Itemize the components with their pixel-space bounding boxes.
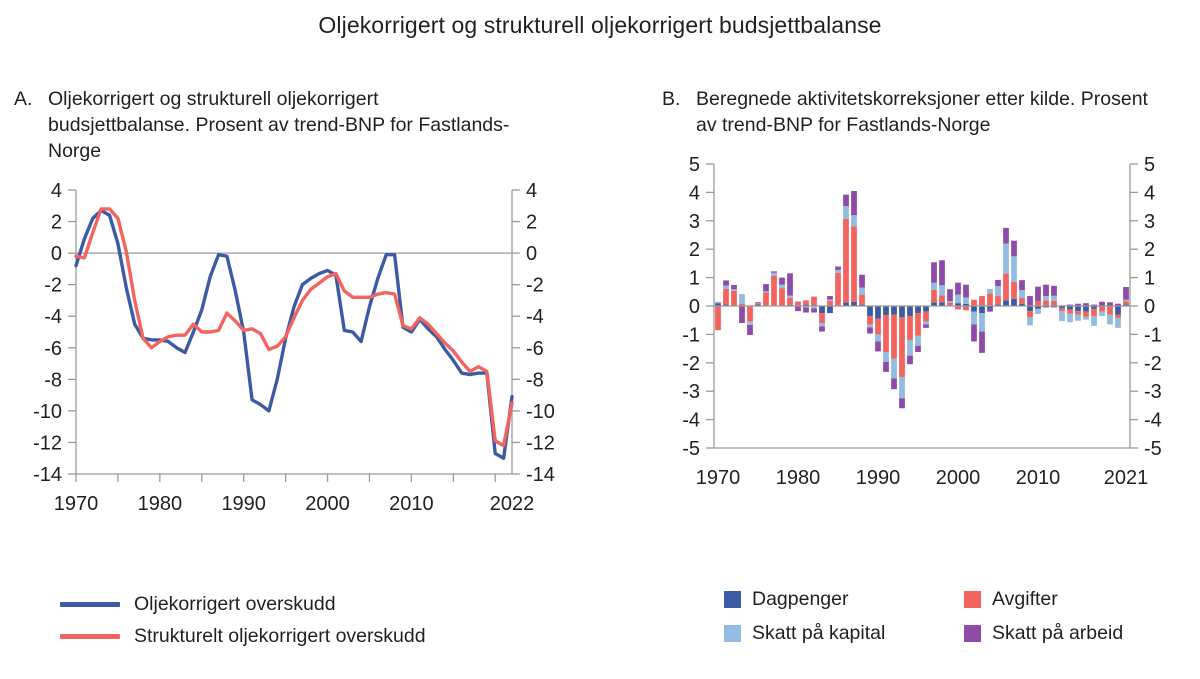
bar-segment — [771, 271, 777, 272]
bar-segment — [795, 306, 801, 311]
legend-color-swatch — [964, 591, 981, 608]
bar-segment — [1003, 273, 1009, 300]
axis-tick-label: 4 — [1144, 182, 1155, 204]
bar-segment — [763, 284, 769, 291]
axis-tick-label: -2 — [1144, 353, 1162, 375]
bar-segment — [1123, 301, 1129, 304]
bar-segment — [787, 295, 793, 297]
axis-tick-label: -4 — [526, 306, 544, 328]
panel-b: B. Beregnede aktivitetskorreksjoner ette… — [662, 86, 1200, 528]
bar-segment — [907, 306, 913, 316]
axis-tick-label: -2 — [682, 353, 700, 375]
bar-segment — [1099, 306, 1105, 312]
bar-segment — [779, 285, 785, 288]
bar-segment — [835, 267, 841, 270]
bar-segment — [907, 340, 913, 356]
bar-segment — [971, 312, 977, 325]
panel-a-chart-svg: 442200-2-2-4-4-6-6-8-8-10-10-12-12-14-14… — [14, 164, 589, 554]
bar-segment — [1027, 296, 1033, 306]
bar-segment — [891, 359, 897, 379]
axis-tick-label: 1980 — [138, 493, 183, 515]
bar-segment — [803, 300, 809, 304]
bar-segment — [1035, 301, 1041, 306]
bar-segment — [827, 299, 833, 300]
axis-tick-label: -12 — [526, 432, 555, 454]
bar-segment — [1099, 302, 1105, 305]
bar-segment — [923, 324, 929, 327]
bar-segment — [1067, 314, 1073, 323]
bar-segment — [1027, 317, 1033, 325]
bar-segment — [923, 322, 929, 325]
bar-segment — [1035, 309, 1041, 314]
bar-segment — [835, 273, 841, 306]
bar-segment — [843, 219, 849, 303]
axis-tick-label: -3 — [1144, 381, 1162, 403]
bar-segment — [1003, 228, 1009, 244]
bar-segment — [851, 191, 857, 215]
bar-segment — [787, 273, 793, 295]
panel-b-chart-svg: 554433221100-1-1-2-2-3-3-4-4-5-519701980… — [662, 138, 1200, 528]
bar-segment — [1011, 256, 1017, 282]
bar-segment — [891, 306, 897, 315]
legend-color-swatch — [964, 625, 981, 642]
axis-tick-label: 4 — [526, 180, 537, 202]
bar-segment — [1083, 312, 1089, 317]
bar-segment — [995, 280, 1001, 286]
bar-segment — [883, 352, 889, 362]
bar-segment — [939, 260, 945, 285]
legend-item-oljekorrigert-overskudd: Oljekorrigert overskudd — [60, 588, 426, 620]
bar-segment — [1019, 280, 1025, 290]
bar-segment — [731, 291, 737, 305]
bar-segment — [987, 293, 993, 306]
bar-segment — [1059, 308, 1065, 311]
bar-segment — [1115, 318, 1121, 328]
legend-label: Dagpenger — [752, 588, 849, 611]
bar-segment — [1051, 286, 1057, 296]
axis-tick-label: -4 — [44, 306, 62, 328]
panel-a-heading: A. Oljekorrigert og strukturell oljekorr… — [14, 86, 589, 164]
bar-segment — [763, 291, 769, 292]
bar-segment — [907, 316, 913, 340]
bar-segment — [931, 283, 937, 290]
bar-segment — [955, 295, 961, 304]
legend-label: Skatt på kapital — [752, 622, 885, 645]
bar-segment — [875, 334, 881, 341]
bar-segment — [995, 296, 1001, 305]
bar-segment — [979, 313, 985, 331]
axis-tick-label: -8 — [526, 369, 544, 391]
bar-segment — [947, 301, 953, 302]
bar-segment — [987, 309, 993, 312]
bar-segment — [827, 296, 833, 299]
bar-segment — [1035, 287, 1041, 301]
axis-tick-label: -1 — [682, 324, 700, 346]
bar-segment — [915, 306, 921, 313]
axis-tick-label: 2 — [689, 239, 700, 261]
bar-segment — [1043, 285, 1049, 296]
legend-color-swatch — [724, 625, 741, 642]
bar-segment — [779, 278, 785, 285]
panel-a-letter: A. — [14, 86, 48, 112]
bar-segment — [851, 226, 857, 301]
bar-segment — [987, 289, 993, 293]
axis-tick-label: -2 — [526, 275, 544, 297]
axis-tick-label: 1990 — [856, 467, 901, 489]
axis-tick-label: 1970 — [696, 467, 741, 489]
axis-tick-label: 5 — [1144, 154, 1155, 176]
bar-segment — [747, 325, 753, 335]
legend-color-swatch — [724, 591, 741, 608]
axis-tick-label: -8 — [44, 369, 62, 391]
bar-segment — [1091, 316, 1097, 326]
bar-segment — [819, 306, 825, 313]
axis-tick-label: -4 — [682, 410, 700, 432]
bar-segment — [787, 298, 793, 305]
axis-tick-label: -6 — [44, 338, 62, 360]
bar-segment — [1003, 244, 1009, 274]
panel-b-heading: B. Beregnede aktivitetskorreksjoner ette… — [662, 86, 1200, 138]
bar-segment — [843, 195, 849, 206]
bar-segment — [963, 297, 969, 303]
bar-segment — [827, 301, 833, 306]
bar-segment — [811, 308, 817, 312]
bar-segment — [731, 289, 737, 291]
legend-label: Oljekorrigert overskudd — [134, 593, 336, 616]
bar-segment — [1075, 306, 1081, 311]
bar-segment — [739, 306, 745, 323]
bar-segment — [739, 294, 745, 304]
bar-segment — [1011, 241, 1017, 257]
panel-a-legend: Oljekorrigert overskudd Strukturelt olje… — [60, 588, 426, 652]
bar-segment — [923, 312, 929, 322]
bar-segment — [979, 306, 985, 313]
panel-b-subtitle: Beregnede aktivitetskorreksjoner etter k… — [696, 86, 1156, 138]
bar-segment — [1083, 317, 1089, 320]
bar-segment — [819, 326, 825, 331]
axis-tick-label: 1 — [1144, 268, 1155, 290]
bar-segment — [971, 300, 977, 306]
bar-segment — [923, 306, 929, 312]
bar-segment — [891, 378, 897, 389]
bar-segment — [1107, 306, 1113, 315]
bar-segment — [915, 346, 921, 352]
bar-segment — [1115, 315, 1121, 318]
bar-segment — [859, 288, 865, 295]
line-series-strukturelt-oljekorrigert-overskudd — [76, 209, 512, 446]
bar-segment — [875, 342, 881, 352]
legend-label: Strukturelt oljekorrigert overskudd — [134, 625, 426, 648]
bar-segment — [867, 316, 873, 325]
bar-segment — [931, 290, 937, 303]
bar-segment — [1011, 282, 1017, 299]
bar-segment — [979, 296, 985, 306]
bar-segment — [899, 398, 905, 408]
bar-segment — [1059, 311, 1065, 321]
bar-segment — [867, 306, 873, 316]
bar-segment — [715, 306, 721, 330]
bar-segment — [1123, 300, 1129, 301]
bar-segment — [883, 315, 889, 352]
axis-tick-label: 1 — [689, 268, 700, 290]
bar-segment — [899, 317, 905, 377]
bar-segment — [1067, 309, 1073, 313]
axis-tick-label: 2010 — [389, 493, 434, 515]
bar-segment — [795, 301, 801, 302]
panel-b-letter: B. — [662, 86, 696, 112]
bar-segment — [883, 306, 889, 315]
legend-item-dagpenger: Dagpenger — [724, 588, 964, 611]
panel-a-plot: 442200-2-2-4-4-6-6-8-8-10-10-12-12-14-14… — [14, 164, 589, 554]
bar-segment — [747, 306, 753, 322]
bar-segment — [979, 332, 985, 353]
bar-segment — [747, 322, 753, 325]
bar-segment — [939, 295, 945, 302]
axis-tick-label: 0 — [1144, 296, 1155, 318]
bar-segment — [1051, 296, 1057, 301]
bar-segment — [1099, 312, 1105, 316]
bar-segment — [891, 315, 897, 359]
axis-tick-label: -2 — [44, 275, 62, 297]
axis-tick-label: 2 — [1144, 239, 1155, 261]
bar-segment — [1091, 309, 1097, 316]
bar-segment — [819, 323, 825, 326]
legend-line-swatch — [60, 602, 120, 607]
axis-tick-label: 1990 — [221, 493, 266, 515]
legend-item-skatt-paa-kapital: Skatt på kapital — [724, 622, 964, 645]
bar-segment — [971, 324, 977, 341]
bar-segment — [867, 324, 873, 327]
bar-segment — [1075, 311, 1081, 314]
axis-tick-label: 1980 — [776, 467, 821, 489]
axis-tick-label: 2000 — [305, 493, 350, 515]
bar-segment — [1115, 306, 1121, 315]
legend-line-swatch — [60, 634, 120, 639]
bar-segment — [1019, 298, 1025, 304]
bar-segment — [803, 307, 809, 312]
panel-b-plot: 554433221100-1-1-2-2-3-3-4-4-5-519701980… — [662, 138, 1200, 528]
bar-segment — [827, 306, 833, 313]
bar-segment — [1043, 300, 1049, 306]
legend-item-strukturelt-oljekorrigert-overskudd: Strukturelt oljekorrigert overskudd — [60, 620, 426, 652]
axis-tick-label: 0 — [51, 243, 62, 265]
bar-segment — [795, 302, 801, 305]
bar-segment — [1051, 301, 1057, 306]
panel-a-subtitle: Oljekorrigert og strukturell oljekorrige… — [48, 86, 518, 164]
bar-segment — [899, 377, 905, 398]
bar-segment — [955, 283, 961, 295]
bar-segment — [1043, 296, 1049, 300]
bar-segment — [739, 304, 745, 305]
axis-tick-label: 2022 — [490, 493, 535, 515]
bar-segment — [723, 280, 729, 285]
bar-segment — [867, 327, 873, 333]
bar-segment — [907, 356, 913, 365]
bar-segment — [723, 286, 729, 289]
bar-segment — [947, 289, 953, 301]
panel-b-legend: Dagpenger Avgifter Skatt på kapital Skat… — [724, 588, 1194, 645]
bar-segment — [1027, 306, 1033, 311]
axis-tick-label: -10 — [526, 401, 555, 423]
axis-tick-label: -6 — [526, 338, 544, 360]
legend-label: Skatt på arbeid — [992, 622, 1123, 645]
bar-segment — [851, 215, 857, 226]
axis-tick-label: 2 — [51, 212, 62, 234]
bar-segment — [755, 303, 761, 304]
bar-segment — [1027, 311, 1033, 317]
axis-tick-label: 2010 — [1016, 467, 1061, 489]
axis-tick-label: 2021 — [1104, 467, 1149, 489]
bar-segment — [915, 336, 921, 346]
bar-segment — [1075, 315, 1081, 321]
axis-tick-label: 2 — [526, 212, 537, 234]
panel-a: A. Oljekorrigert og strukturell oljekorr… — [14, 86, 589, 554]
axis-tick-label: -4 — [1144, 410, 1162, 432]
bar-segment — [843, 206, 849, 219]
bar-segment — [835, 270, 841, 273]
axis-tick-label: 0 — [689, 296, 700, 318]
axis-tick-label: 4 — [689, 182, 700, 204]
bar-segment — [763, 292, 769, 305]
axis-tick-label: -10 — [33, 401, 62, 423]
bar-segment — [859, 275, 865, 288]
bar-segment — [779, 288, 785, 305]
bar-segment — [995, 286, 1001, 296]
bar-segment — [939, 285, 945, 295]
bar-segment — [971, 306, 977, 312]
bar-segment — [771, 273, 777, 276]
bar-segment — [755, 303, 761, 304]
bar-segment — [811, 297, 817, 306]
bar-segment — [875, 306, 881, 319]
bar-segment — [1107, 315, 1113, 325]
axis-tick-label: -1 — [1144, 324, 1162, 346]
bar-segment — [755, 302, 761, 303]
bar-segment — [1011, 299, 1017, 306]
axis-tick-label: 1970 — [54, 493, 99, 515]
legend-item-skatt-paa-arbeid: Skatt på arbeid — [964, 622, 1200, 645]
bar-segment — [819, 313, 825, 323]
bar-segment — [1003, 300, 1009, 306]
bar-segment — [723, 289, 729, 305]
axis-tick-label: 3 — [1144, 211, 1155, 233]
bar-segment — [771, 276, 777, 306]
axis-tick-label: 2000 — [936, 467, 981, 489]
bar-segment — [899, 306, 905, 317]
axis-tick-label: 5 — [689, 154, 700, 176]
axis-tick-label: 3 — [689, 211, 700, 233]
bar-segment — [931, 262, 937, 282]
bar-segment — [1083, 306, 1089, 312]
axis-tick-label: -12 — [33, 432, 62, 454]
bar-segment — [947, 303, 953, 306]
axis-tick-label: -5 — [682, 438, 700, 460]
bar-segment — [915, 313, 921, 336]
axis-tick-label: 0 — [526, 243, 537, 265]
legend-label: Avgifter — [992, 588, 1058, 611]
axis-tick-label: -3 — [682, 381, 700, 403]
figure-title: Oljekorrigert og strukturell oljekorrige… — [0, 12, 1200, 39]
axis-tick-label: 4 — [51, 180, 62, 202]
bar-segment — [715, 302, 721, 303]
legend-item-avgifter: Avgifter — [964, 588, 1200, 611]
bar-segment — [731, 285, 737, 289]
bar-segment — [1123, 287, 1129, 300]
bar-segment — [851, 302, 857, 306]
bar-segment — [859, 295, 865, 305]
bar-segment — [1019, 290, 1025, 298]
bar-segment — [963, 285, 969, 298]
axis-tick-label: -14 — [526, 464, 555, 486]
bar-segment — [1107, 302, 1113, 304]
axis-tick-label: -14 — [33, 464, 62, 486]
axis-tick-label: -5 — [1144, 438, 1162, 460]
bar-segment — [883, 362, 889, 372]
bar-segment — [875, 319, 881, 335]
bar-segment — [963, 306, 969, 310]
